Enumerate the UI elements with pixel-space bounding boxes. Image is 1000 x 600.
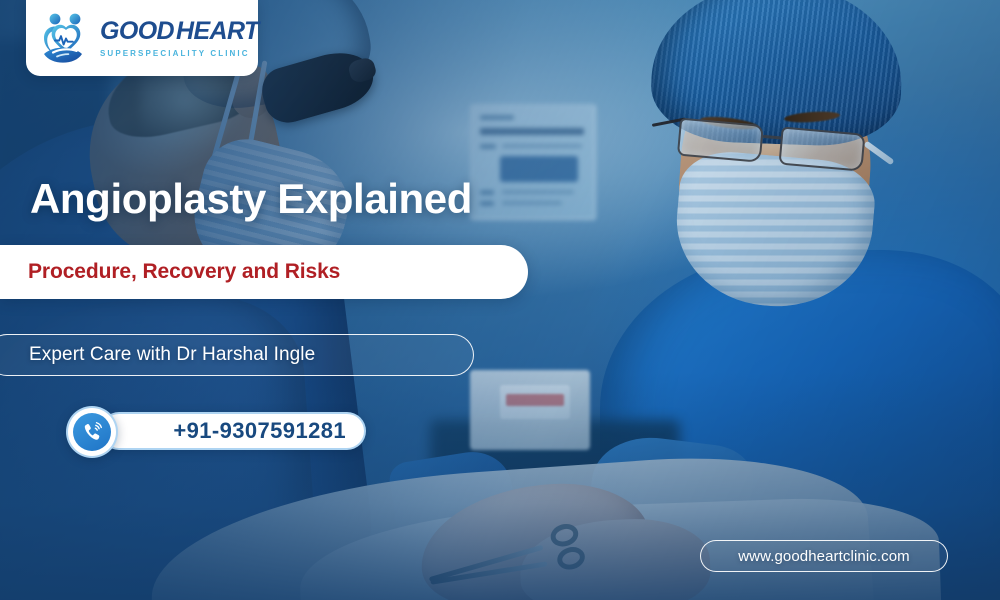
website-pill[interactable]: www.goodheartclinic.com xyxy=(700,540,948,572)
clinic-promo-banner: GOODHEART SUPERSPECIALITY CLINIC Angiopl… xyxy=(0,0,1000,600)
website-url-text: www.goodheartclinic.com xyxy=(738,548,910,565)
brand-name-part1: GOOD xyxy=(100,17,174,45)
phone-ringing-icon xyxy=(73,413,111,451)
operating-room-background-photo xyxy=(0,0,1000,600)
phone-icon-circle[interactable] xyxy=(66,406,118,458)
doctor-credit-text: Expert Care with Dr Harshal Ingle xyxy=(29,344,315,366)
hero-subtitle-text: Procedure, Recovery and Risks xyxy=(28,260,340,284)
brand-name-part2: HEART xyxy=(176,17,259,45)
bottom-blue-overlay xyxy=(0,0,1000,600)
heart-family-hand-icon xyxy=(40,11,92,65)
clinic-logo-card[interactable]: GOODHEART SUPERSPECIALITY CLINIC xyxy=(26,0,258,76)
doctor-credit-pill: Expert Care with Dr Harshal Ingle xyxy=(0,334,474,376)
hero-subtitle-pill: Procedure, Recovery and Risks xyxy=(0,245,528,299)
phone-number-pill[interactable]: +91-9307591281 xyxy=(100,412,366,450)
hero-headline: Angioplasty Explained xyxy=(30,175,472,223)
clinic-logo-text: GOODHEART SUPERSPECIALITY CLINIC xyxy=(100,19,259,58)
brand-tagline: SUPERSPECIALITY CLINIC xyxy=(100,50,259,58)
phone-number-text: +91-9307591281 xyxy=(173,418,346,444)
